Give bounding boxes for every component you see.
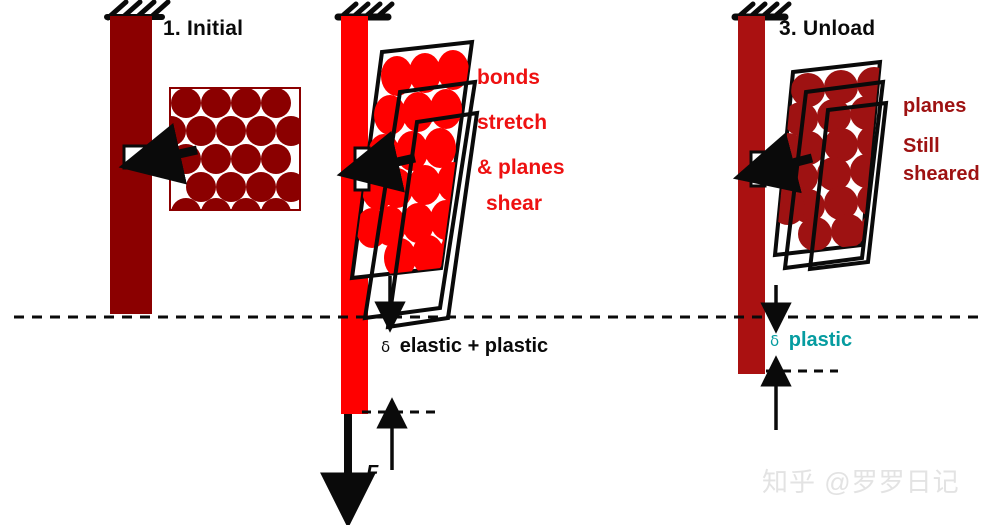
support-hatch-2 (338, 4, 392, 18)
deflection-label-2: δ elastic + plastic (381, 336, 548, 356)
label-shear: shear (486, 193, 542, 214)
force-label: F (366, 463, 378, 483)
panel-1-title: 1. Initial (163, 18, 243, 39)
label-stretch: stretch (477, 112, 547, 133)
support-hatch-3 (735, 4, 789, 18)
delta-symbol-2: δ (381, 338, 390, 356)
panel-3-title: 3. Unload (779, 18, 875, 39)
watermark: 知乎 @罗罗日记 (762, 462, 960, 499)
panel-2-loaded (338, 4, 477, 498)
bar-unload (738, 16, 765, 374)
label-planes: planes (903, 96, 966, 116)
diagram-canvas: 1. Initial 3. Unload bonds stretch & pla… (0, 0, 1000, 525)
label-and-planes: & planes (477, 157, 565, 178)
deflection-text-3: plastic (789, 329, 852, 351)
deflection-label-3: δ plastic (770, 330, 852, 350)
panel-1-initial (107, 2, 306, 314)
gauge-marker-3 (751, 152, 765, 186)
deflection-text-2: elastic + plastic (400, 335, 548, 357)
label-still: Still (903, 136, 940, 156)
label-bonds: bonds (477, 67, 540, 88)
gauge-marker-2 (355, 148, 369, 190)
label-sheared: sheared (903, 164, 980, 184)
gauge-marker-1 (124, 146, 146, 168)
support-hatch-1 (107, 2, 168, 18)
delta-symbol-3: δ (770, 332, 779, 350)
panel-3-unload (735, 4, 895, 430)
